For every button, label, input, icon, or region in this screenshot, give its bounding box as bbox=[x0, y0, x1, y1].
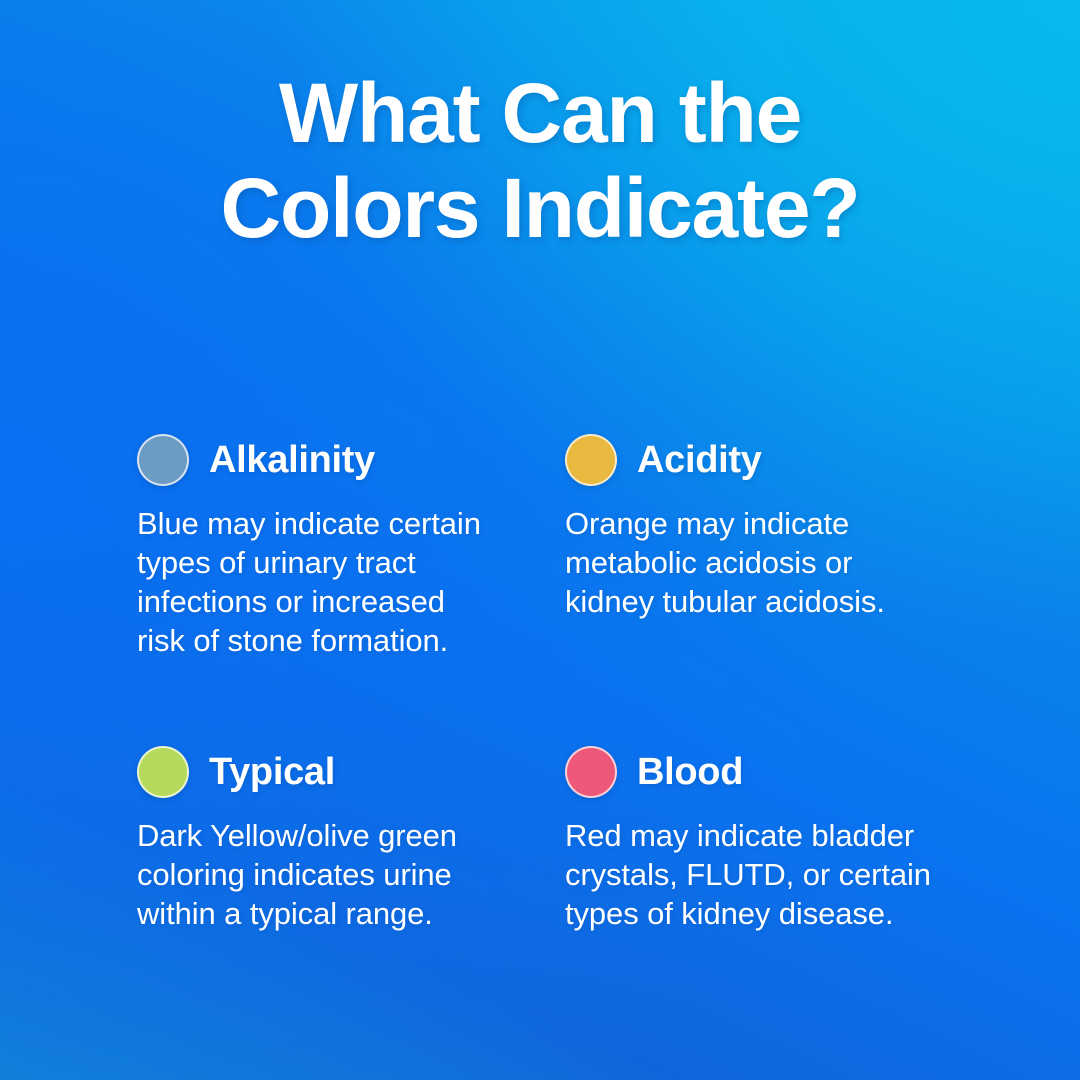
title-line-1: What Can the bbox=[0, 66, 1080, 161]
color-item-label-typical: Typical bbox=[209, 750, 335, 794]
blood-color-swatch-icon bbox=[565, 746, 617, 798]
color-item-header: Alkalinity bbox=[137, 432, 565, 488]
color-item-blood: Blood Red may indicate bladder crystals,… bbox=[565, 744, 967, 933]
color-item-description-typical: Dark Yellow/olive green coloring indicat… bbox=[137, 816, 565, 933]
color-item-header: Blood bbox=[565, 744, 967, 800]
color-indicator-grid: Alkalinity Blue may indicate certain typ… bbox=[137, 432, 967, 933]
title-line-2: Colors Indicate? bbox=[0, 161, 1080, 256]
infographic-poster: What Can the Colors Indicate? Alkalinity… bbox=[0, 0, 1080, 1080]
alkalinity-color-swatch-icon bbox=[137, 434, 189, 486]
color-item-label-acidity: Acidity bbox=[637, 438, 762, 482]
color-item-typical: Typical Dark Yellow/olive green coloring… bbox=[137, 744, 565, 933]
color-item-acidity: Acidity Orange may indicate metabolic ac… bbox=[565, 432, 967, 660]
color-item-label-blood: Blood bbox=[637, 750, 743, 794]
page-title: What Can the Colors Indicate? bbox=[0, 66, 1080, 256]
acidity-color-swatch-icon bbox=[565, 434, 617, 486]
color-item-header: Typical bbox=[137, 744, 565, 800]
color-item-description-alkalinity: Blue may indicate certain types of urina… bbox=[137, 504, 565, 660]
typical-color-swatch-icon bbox=[137, 746, 189, 798]
color-item-description-blood: Red may indicate bladder crystals, FLUTD… bbox=[565, 816, 967, 933]
color-item-description-acidity: Orange may indicate metabolic acidosis o… bbox=[565, 504, 967, 621]
color-item-header: Acidity bbox=[565, 432, 967, 488]
color-item-alkalinity: Alkalinity Blue may indicate certain typ… bbox=[137, 432, 565, 660]
color-item-label-alkalinity: Alkalinity bbox=[209, 438, 375, 482]
